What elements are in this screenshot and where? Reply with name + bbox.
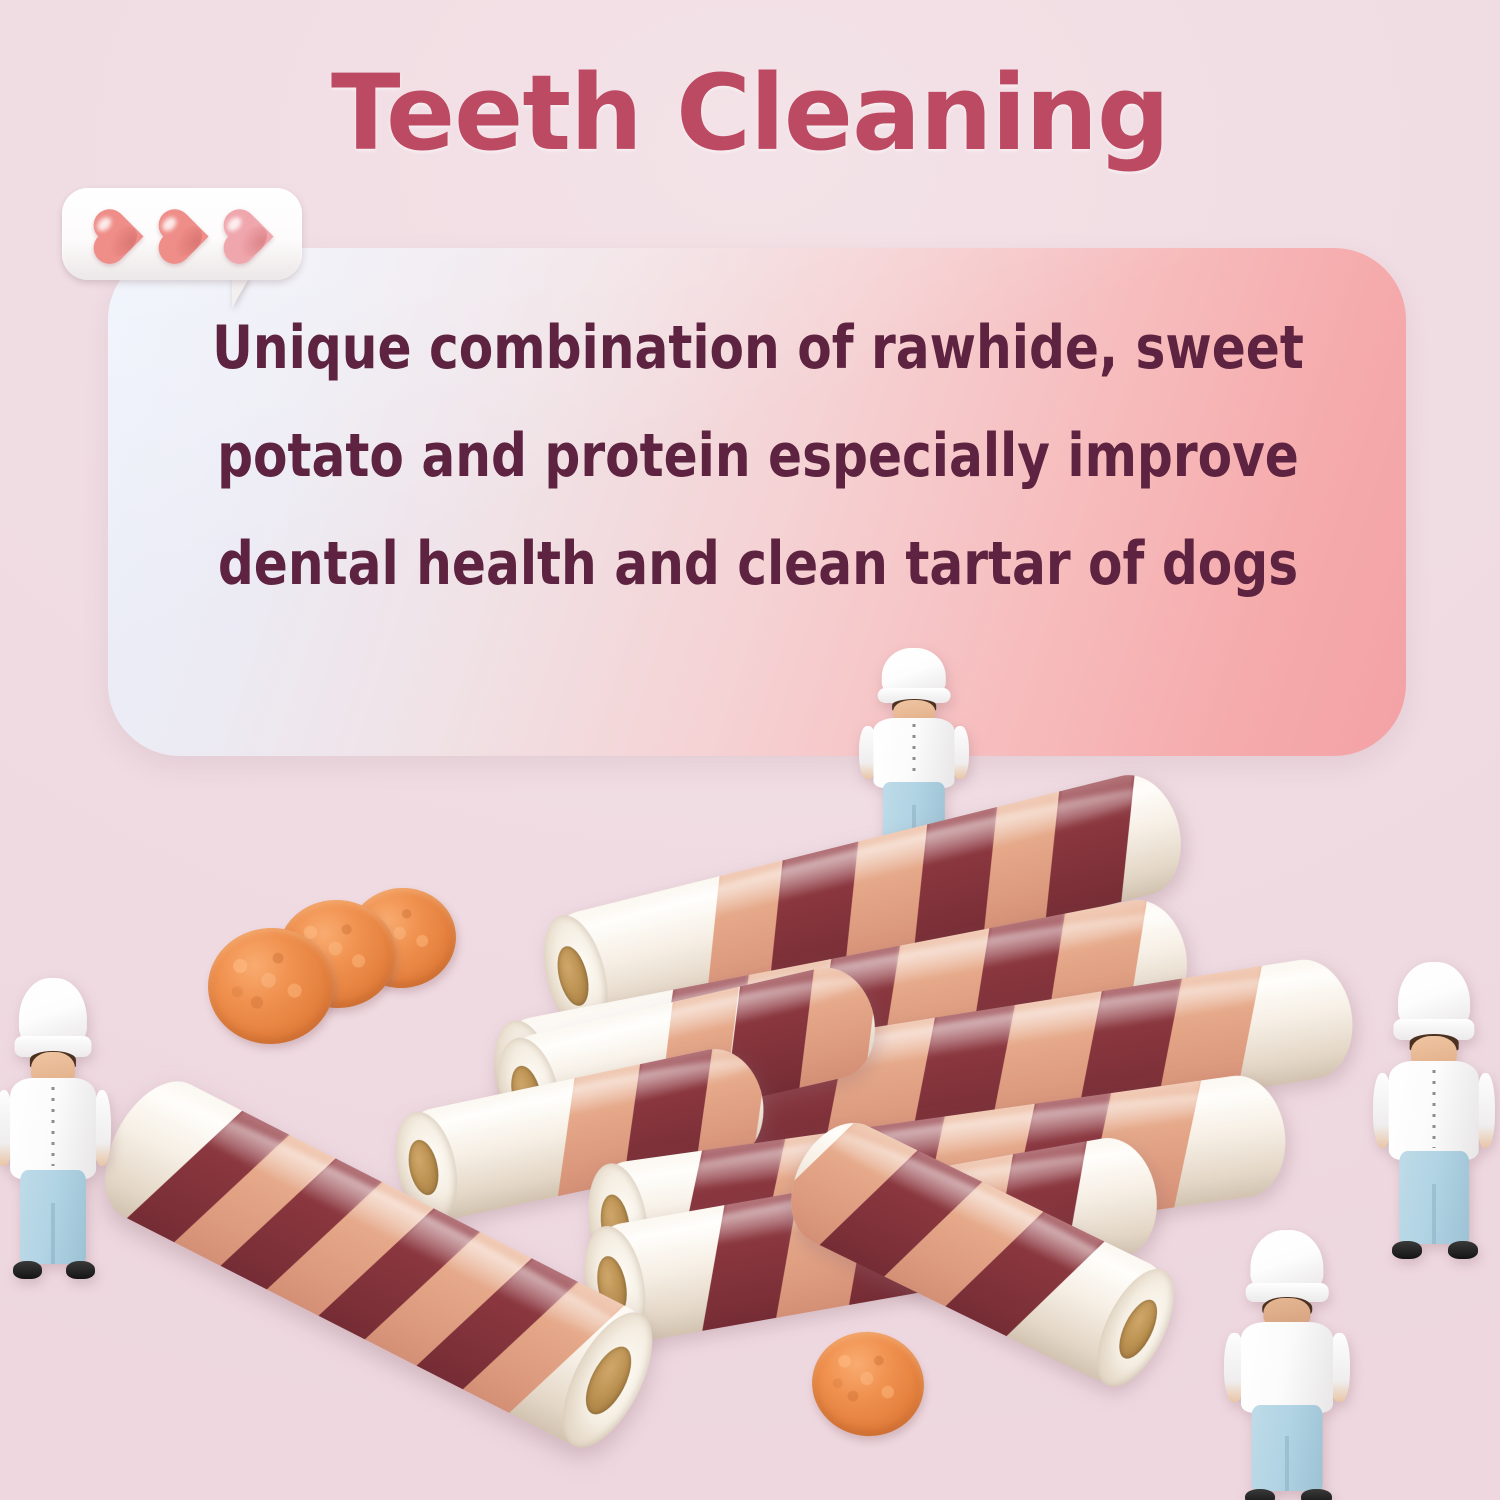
chef-jacket-buttons bbox=[913, 724, 916, 779]
chef-shoe-left bbox=[1245, 1489, 1276, 1500]
chef-jacket-buttons bbox=[1433, 1070, 1436, 1148]
description-line-2: potato and protein especially improve bbox=[209, 402, 1306, 510]
chef-figurine bbox=[1376, 962, 1492, 1262]
feature-description-card: Unique combination of rawhide, sweet pot… bbox=[108, 248, 1406, 756]
slice-texture bbox=[216, 935, 327, 1038]
chef-figurine bbox=[1228, 1230, 1346, 1500]
chef-leg-split bbox=[1432, 1184, 1436, 1244]
page-title: Teeth Cleaning bbox=[15, 52, 1485, 174]
bubble-body bbox=[62, 188, 302, 280]
description-line-1: Unique combination of rawhide, sweet bbox=[209, 294, 1306, 402]
product-feature-image: Teeth Cleaning Unique combination of raw… bbox=[0, 0, 1500, 1500]
chef-figurine bbox=[0, 978, 108, 1282]
chef-leg-split bbox=[51, 1203, 55, 1264]
description-line-3: dental health and clean tartar of dogs bbox=[209, 510, 1306, 618]
heart-icon bbox=[220, 209, 274, 259]
sweet-potato-slice bbox=[805, 1325, 930, 1444]
hearts-rating-bubble bbox=[62, 188, 302, 280]
chef-shoe-right bbox=[1301, 1489, 1332, 1500]
chef-shoe-right bbox=[1448, 1241, 1478, 1259]
chef-shoe-left bbox=[1392, 1241, 1422, 1259]
chef-jacket bbox=[1241, 1322, 1333, 1414]
heart-icon bbox=[90, 209, 144, 259]
heart-icon bbox=[155, 209, 209, 259]
slice-texture bbox=[815, 1334, 920, 1434]
chef-leg-split bbox=[1285, 1436, 1289, 1492]
chef-shoe-right bbox=[66, 1261, 95, 1279]
feature-description-text: Unique combination of rawhide, sweet pot… bbox=[168, 294, 1348, 618]
chef-jacket-buttons bbox=[52, 1087, 55, 1166]
chef-shoe-left bbox=[13, 1261, 42, 1279]
